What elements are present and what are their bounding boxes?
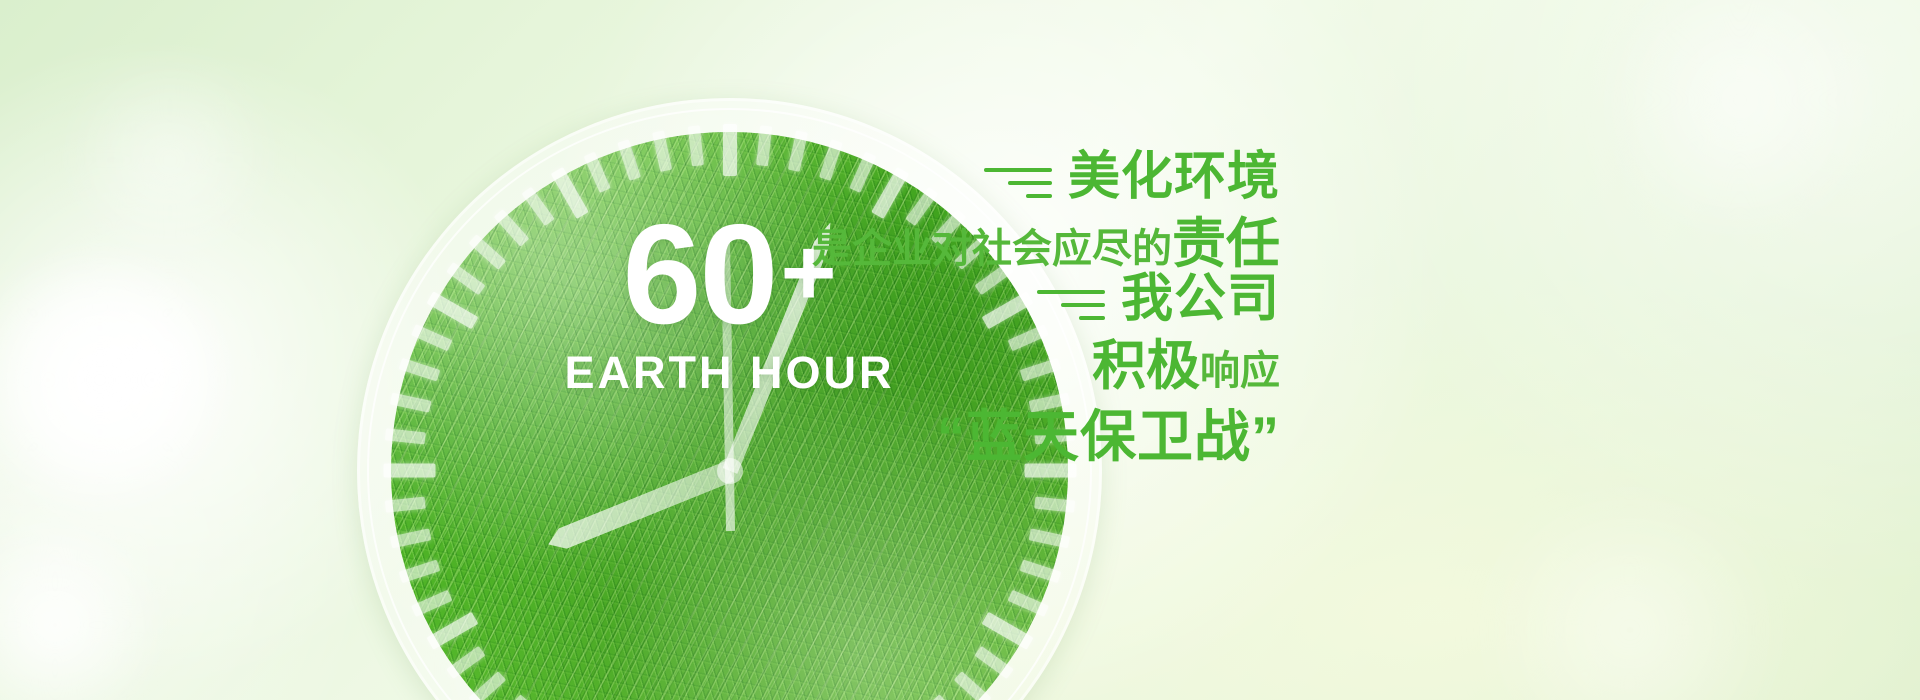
- clock-tick-bar: [411, 324, 452, 351]
- clock-tick-bar: [493, 209, 529, 247]
- earth-hour-banner: 60+ EARTH HOUR 美化环境 是企业对社会应尽的责任 我公司 积极响应…: [0, 0, 1920, 700]
- clock-tick-bar: [550, 167, 588, 219]
- clock-tick-bar: [583, 152, 610, 193]
- copy-block-top: 美化环境 是企业对社会应尽的责任: [812, 150, 1280, 276]
- bokeh-light-lower-right: [1460, 500, 1800, 700]
- clock-tick-bar: [389, 393, 431, 413]
- copy-bottom-lead-row: 我公司: [937, 272, 1280, 327]
- clock-tick-bar: [383, 464, 435, 478]
- clock-tick-bar: [426, 612, 478, 650]
- copy-top-sub-prefix: 是企业对社会应尽的: [812, 227, 1172, 271]
- copy-bottom-quote: “蓝天保卫战”: [937, 404, 1280, 470]
- bokeh-light-lower-left: [0, 520, 170, 700]
- bokeh-light-left: [0, 250, 240, 510]
- dash-line-1: [984, 168, 1052, 172]
- clock-tick-bar: [398, 358, 440, 382]
- copy-bottom-big: 积极响应: [937, 335, 1280, 399]
- clock-tick-bar: [787, 130, 807, 172]
- dash-line-2: [1008, 181, 1052, 185]
- clock-tick-bar: [1034, 497, 1075, 513]
- clock-tick-bar: [468, 671, 506, 700]
- clock-tick-bar: [974, 646, 1013, 679]
- clock-tick-bar: [493, 694, 529, 700]
- clock-tick-bar: [468, 234, 506, 270]
- clock-tick-bar: [1028, 528, 1070, 548]
- clock-tick-bar: [426, 291, 478, 329]
- dash-line-2: [1061, 303, 1105, 307]
- clock-tick-bar: [617, 139, 641, 181]
- copy-top-lead: 美化环境: [1068, 150, 1280, 205]
- clock-tick-bar: [687, 125, 703, 166]
- bokeh-light-upper-left: [60, 60, 280, 260]
- clock-center-cap: [717, 458, 743, 484]
- clock-tick-bar: [384, 428, 425, 444]
- copy-bottom-lead: 我公司: [1121, 272, 1280, 327]
- clock-tick-bar: [446, 646, 485, 679]
- dash-line-1: [1037, 290, 1105, 294]
- clock-tick-bar: [411, 590, 452, 617]
- clock-tick-bar: [384, 497, 425, 513]
- copy-bottom-big-rest: 响应: [1200, 349, 1280, 393]
- clock-tick-bar: [930, 694, 966, 700]
- clock-tick-bar: [953, 671, 991, 700]
- three-dash-lines-icon: [1037, 272, 1105, 320]
- clock-tick-bar: [981, 612, 1033, 650]
- copy-top-sub-emphasis: 责任: [1172, 214, 1280, 274]
- dash-line-3: [1079, 316, 1105, 320]
- clock-tick-bar: [1007, 590, 1048, 617]
- copy-top-lead-row: 美化环境: [812, 150, 1280, 205]
- three-dash-lines-icon: [984, 150, 1052, 198]
- dash-line-3: [1026, 194, 1052, 198]
- copy-block-bottom: 我公司 积极响应 “蓝天保卫战”: [937, 272, 1280, 470]
- clock-tick-bar: [389, 528, 431, 548]
- clock-tick-bar: [723, 124, 737, 176]
- clock-tick-bar: [398, 560, 440, 584]
- copy-bottom-big-emphasis: 积极: [1092, 336, 1200, 396]
- clock-tick-bar: [1019, 560, 1061, 584]
- copy-top-sub: 是企业对社会应尽的责任: [812, 213, 1280, 277]
- clock-tick-bar: [756, 125, 772, 166]
- bokeh-light-upper-right: [1590, 0, 1890, 230]
- clock-tick-bar: [446, 262, 485, 295]
- clock-tick-bar: [521, 187, 554, 226]
- clock-tick-bar: [652, 130, 672, 172]
